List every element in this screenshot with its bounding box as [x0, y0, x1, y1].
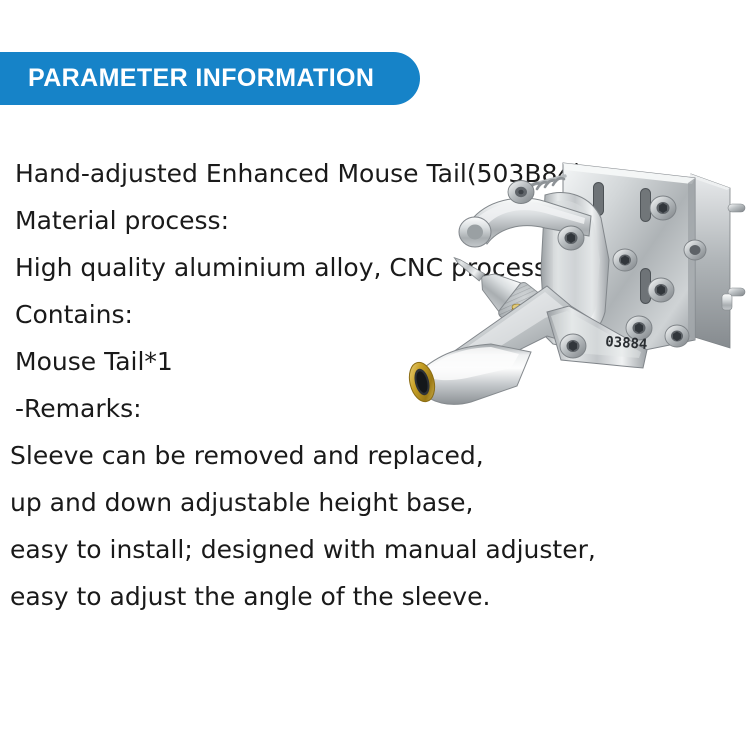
remark-line: easy to adjust the angle of the sleeve.	[10, 573, 650, 620]
rear-mount-plate	[689, 174, 745, 348]
hex-bolt	[665, 325, 689, 347]
hex-bolt	[650, 196, 676, 220]
engraved-marking: 03884	[605, 334, 648, 353]
hex-bolt	[560, 334, 586, 358]
remark-line: Sleeve can be removed and replaced,	[10, 432, 650, 479]
product-image: 03884	[395, 140, 750, 430]
hex-bolt	[613, 249, 637, 271]
remarks-list: Sleeve can be removed and replaced, up a…	[10, 432, 650, 620]
remark-line: easy to install; designed with manual ad…	[10, 526, 650, 573]
hex-bolt	[558, 226, 584, 250]
hex-bolt	[648, 278, 674, 302]
parameter-information-banner: PARAMETER INFORMATION	[0, 52, 420, 105]
banner-title: PARAMETER INFORMATION	[0, 64, 374, 93]
product-illustration: 03884	[395, 140, 750, 430]
sleeve-tube	[406, 344, 531, 404]
hex-bolt	[684, 240, 706, 260]
remark-line: up and down adjustable height base,	[10, 479, 650, 526]
